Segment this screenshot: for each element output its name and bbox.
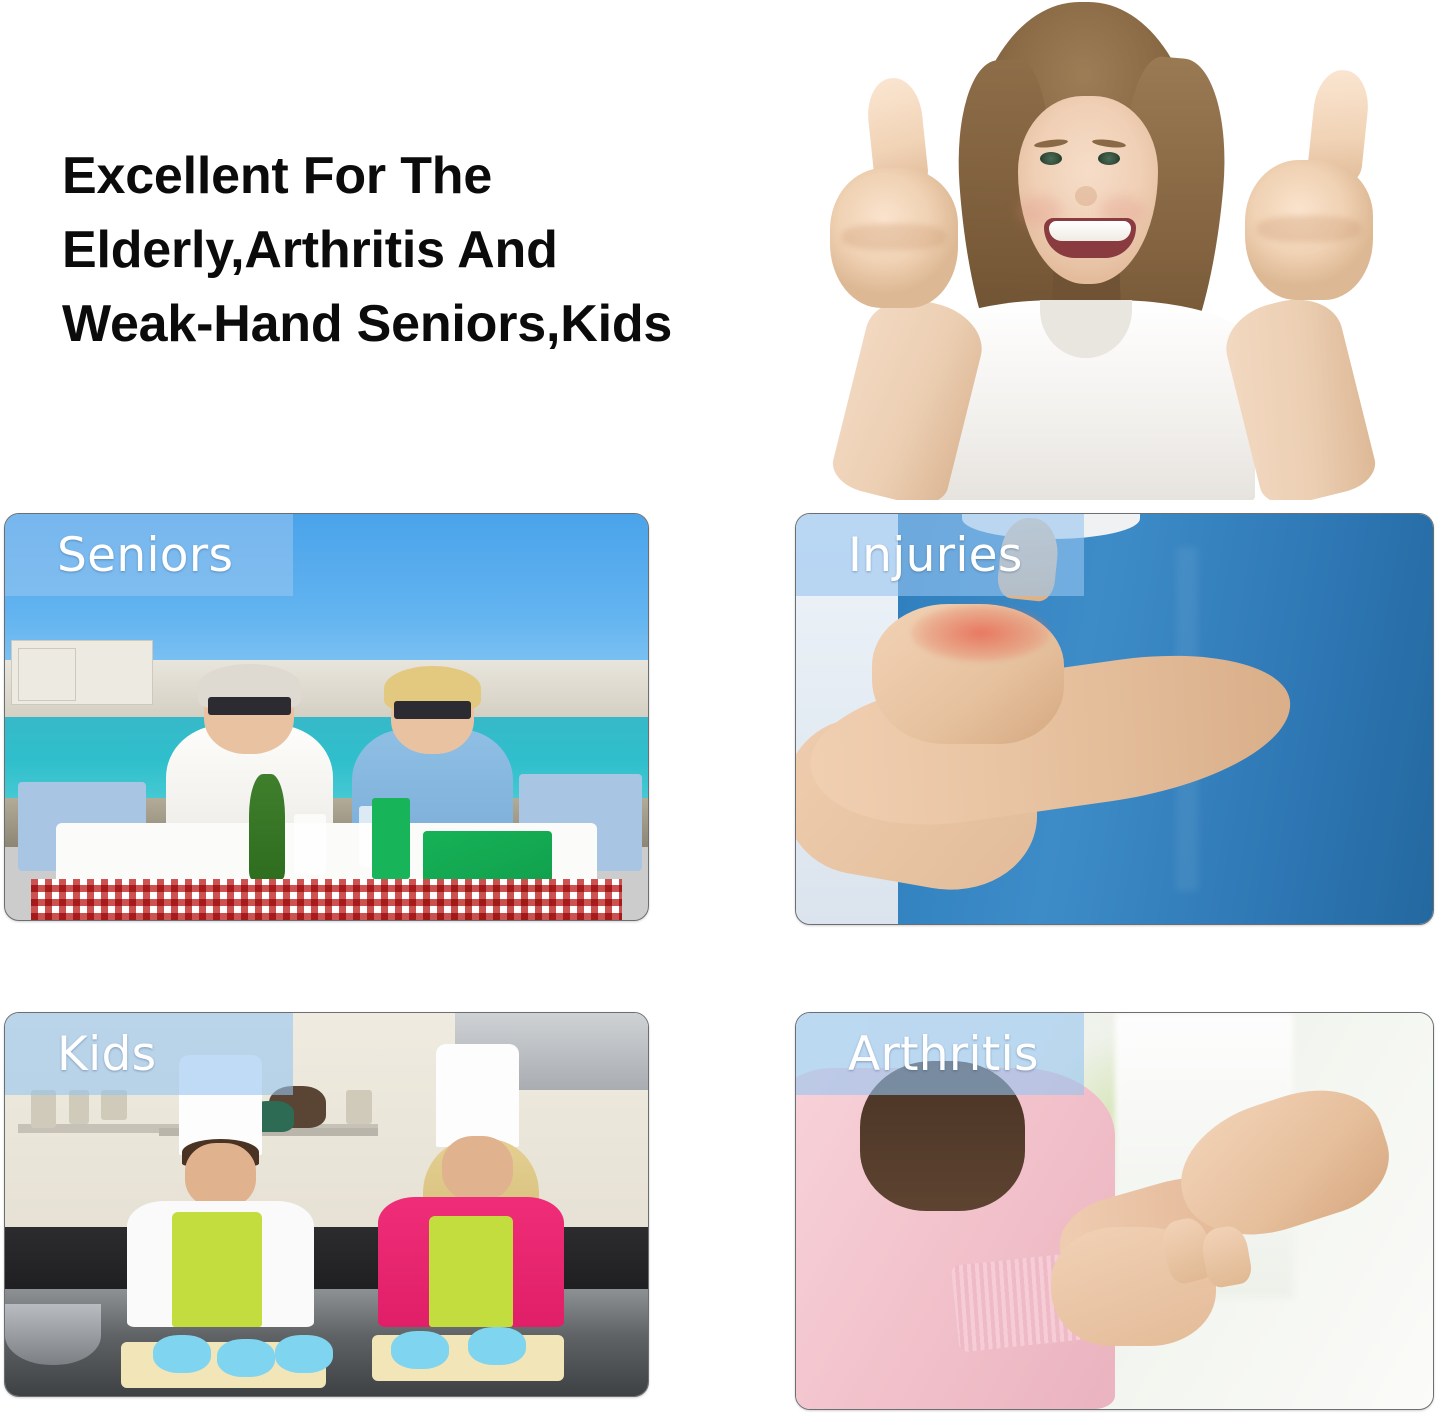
kids-photo [5,1013,648,1396]
left-knuckles [842,224,946,250]
left-eye [1040,152,1062,165]
page-headline: Excellent For The Elderly,Arthritis And … [62,140,802,361]
smiling-mouth [1044,218,1136,258]
panel-kids: Kids [4,1012,649,1397]
senior-man-sunglasses [208,697,292,715]
jar [31,1090,57,1128]
seniors-photo [5,514,648,920]
blue-cutter [275,1335,333,1373]
jar [346,1090,372,1124]
gingham-tablecloth [31,879,623,920]
injuries-photo [796,514,1433,924]
hair [860,1061,1026,1211]
blue-cutter [217,1339,275,1377]
blue-cutter [153,1335,211,1373]
jar [101,1090,127,1121]
boy-head [185,1143,256,1208]
senior-woman-sunglasses [394,701,471,719]
blue-cutter [391,1331,449,1369]
building [18,648,76,701]
panel-seniors: Seniors [4,513,649,921]
headline-line-3: Weak-Hand Seniors,Kids [62,288,802,362]
girl-thumbs-up-photo [700,0,1445,500]
jar [69,1090,88,1124]
water-glass [294,814,326,875]
right-fist [1245,160,1373,300]
headline-line-1: Excellent For The [62,140,802,214]
blue-cutter [468,1327,526,1365]
beer-bottle [249,774,284,880]
headline-line-2: Elderly,Arthritis And [62,214,802,288]
arthritis-photo [796,1013,1433,1409]
teeth [1049,221,1131,241]
right-knuckles [1257,216,1361,242]
girl-green-apron [429,1216,513,1327]
boy-green-apron [172,1212,262,1327]
hero-illustration [700,0,1445,500]
right-eye [1098,152,1120,165]
girl-head [442,1136,513,1201]
pain-highlight [911,604,1051,661]
girl-chef-hat [436,1044,520,1147]
nose [1075,186,1097,206]
green-cup [372,798,411,879]
panel-injuries: Injuries [795,513,1434,925]
left-fist [830,168,958,308]
mixing-bowl [5,1304,101,1365]
panel-arthritis: Arthritis [795,1012,1434,1410]
